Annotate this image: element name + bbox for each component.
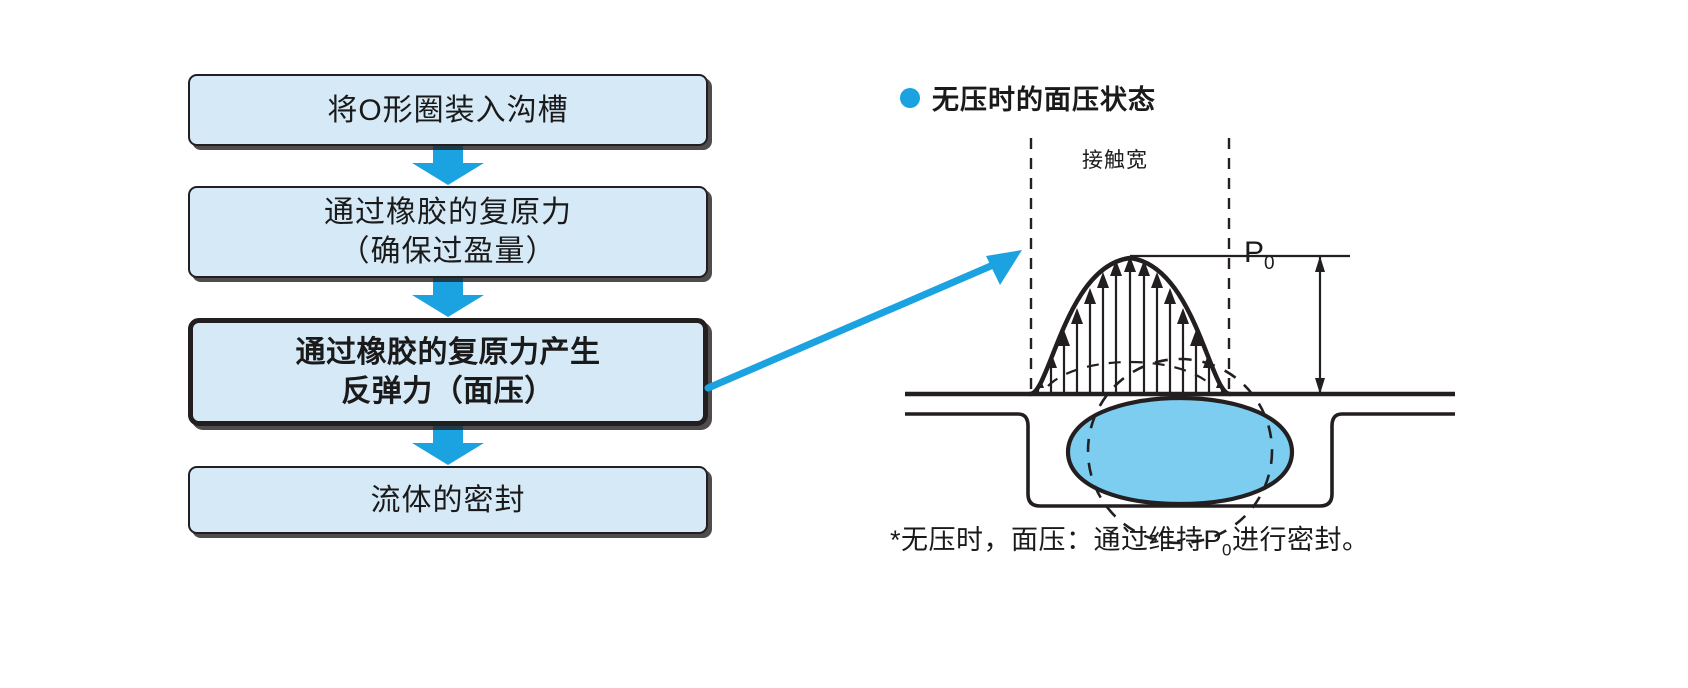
down-arrow-icon — [411, 278, 485, 318]
p0-arrow-down — [1315, 378, 1325, 394]
flow-connector-2 — [188, 278, 708, 318]
flow-step-4-label: 流体的密封 — [371, 481, 526, 520]
flow-step-3-label: 通过橡胶的复原力产生 反弹力（面压） — [296, 333, 601, 411]
down-arrow-icon — [411, 146, 485, 186]
illustration-heading: 无压时的面压状态 — [900, 78, 1156, 117]
caption-text-after: 进行密封。 — [1232, 525, 1370, 555]
diagram-canvas: 将O形圈装入沟槽 通过橡胶的复原力 （确保过盈量） 通过橡胶的复原力产生 反弹力… — [0, 0, 1688, 688]
pressure-illustration: 无压时的面压状态 接触宽 P0 — [880, 66, 1480, 586]
flow-step-2-label: 通过橡胶的复原力 （确保过盈量） — [324, 193, 572, 271]
flow-step-1-label: 将O形圈装入沟槽 — [327, 91, 568, 130]
illustration-heading-label: 无压时的面压状态 — [932, 78, 1156, 117]
p0-arrow-up — [1315, 256, 1325, 272]
o-ring-groove-drawing — [880, 126, 1480, 516]
down-arrow-icon — [411, 426, 485, 466]
flow-step-3: 通过橡胶的复原力产生 反弹力（面压） — [188, 318, 708, 426]
caption-text-before: *无压时，面压：通过维持P — [890, 525, 1222, 555]
illustration-caption: *无压时，面压：通过维持P0进行密封。 — [890, 518, 1369, 560]
flow-connector-3 — [188, 426, 708, 466]
caption-subscript: 0 — [1222, 540, 1232, 559]
filled-circle-bullet-icon — [900, 88, 920, 108]
flow-connector-1 — [188, 146, 708, 186]
pressure-distribution-arrows — [1032, 256, 1228, 394]
flow-step-2: 通过橡胶的复原力 （确保过盈量） — [188, 186, 708, 278]
flow-step-1: 将O形圈装入沟槽 — [188, 74, 708, 146]
compressed-o-ring — [1068, 398, 1292, 504]
flow-step-4: 流体的密封 — [188, 466, 708, 534]
process-flowchart: 将O形圈装入沟槽 通过橡胶的复原力 （确保过盈量） 通过橡胶的复原力产生 反弹力… — [188, 74, 708, 534]
